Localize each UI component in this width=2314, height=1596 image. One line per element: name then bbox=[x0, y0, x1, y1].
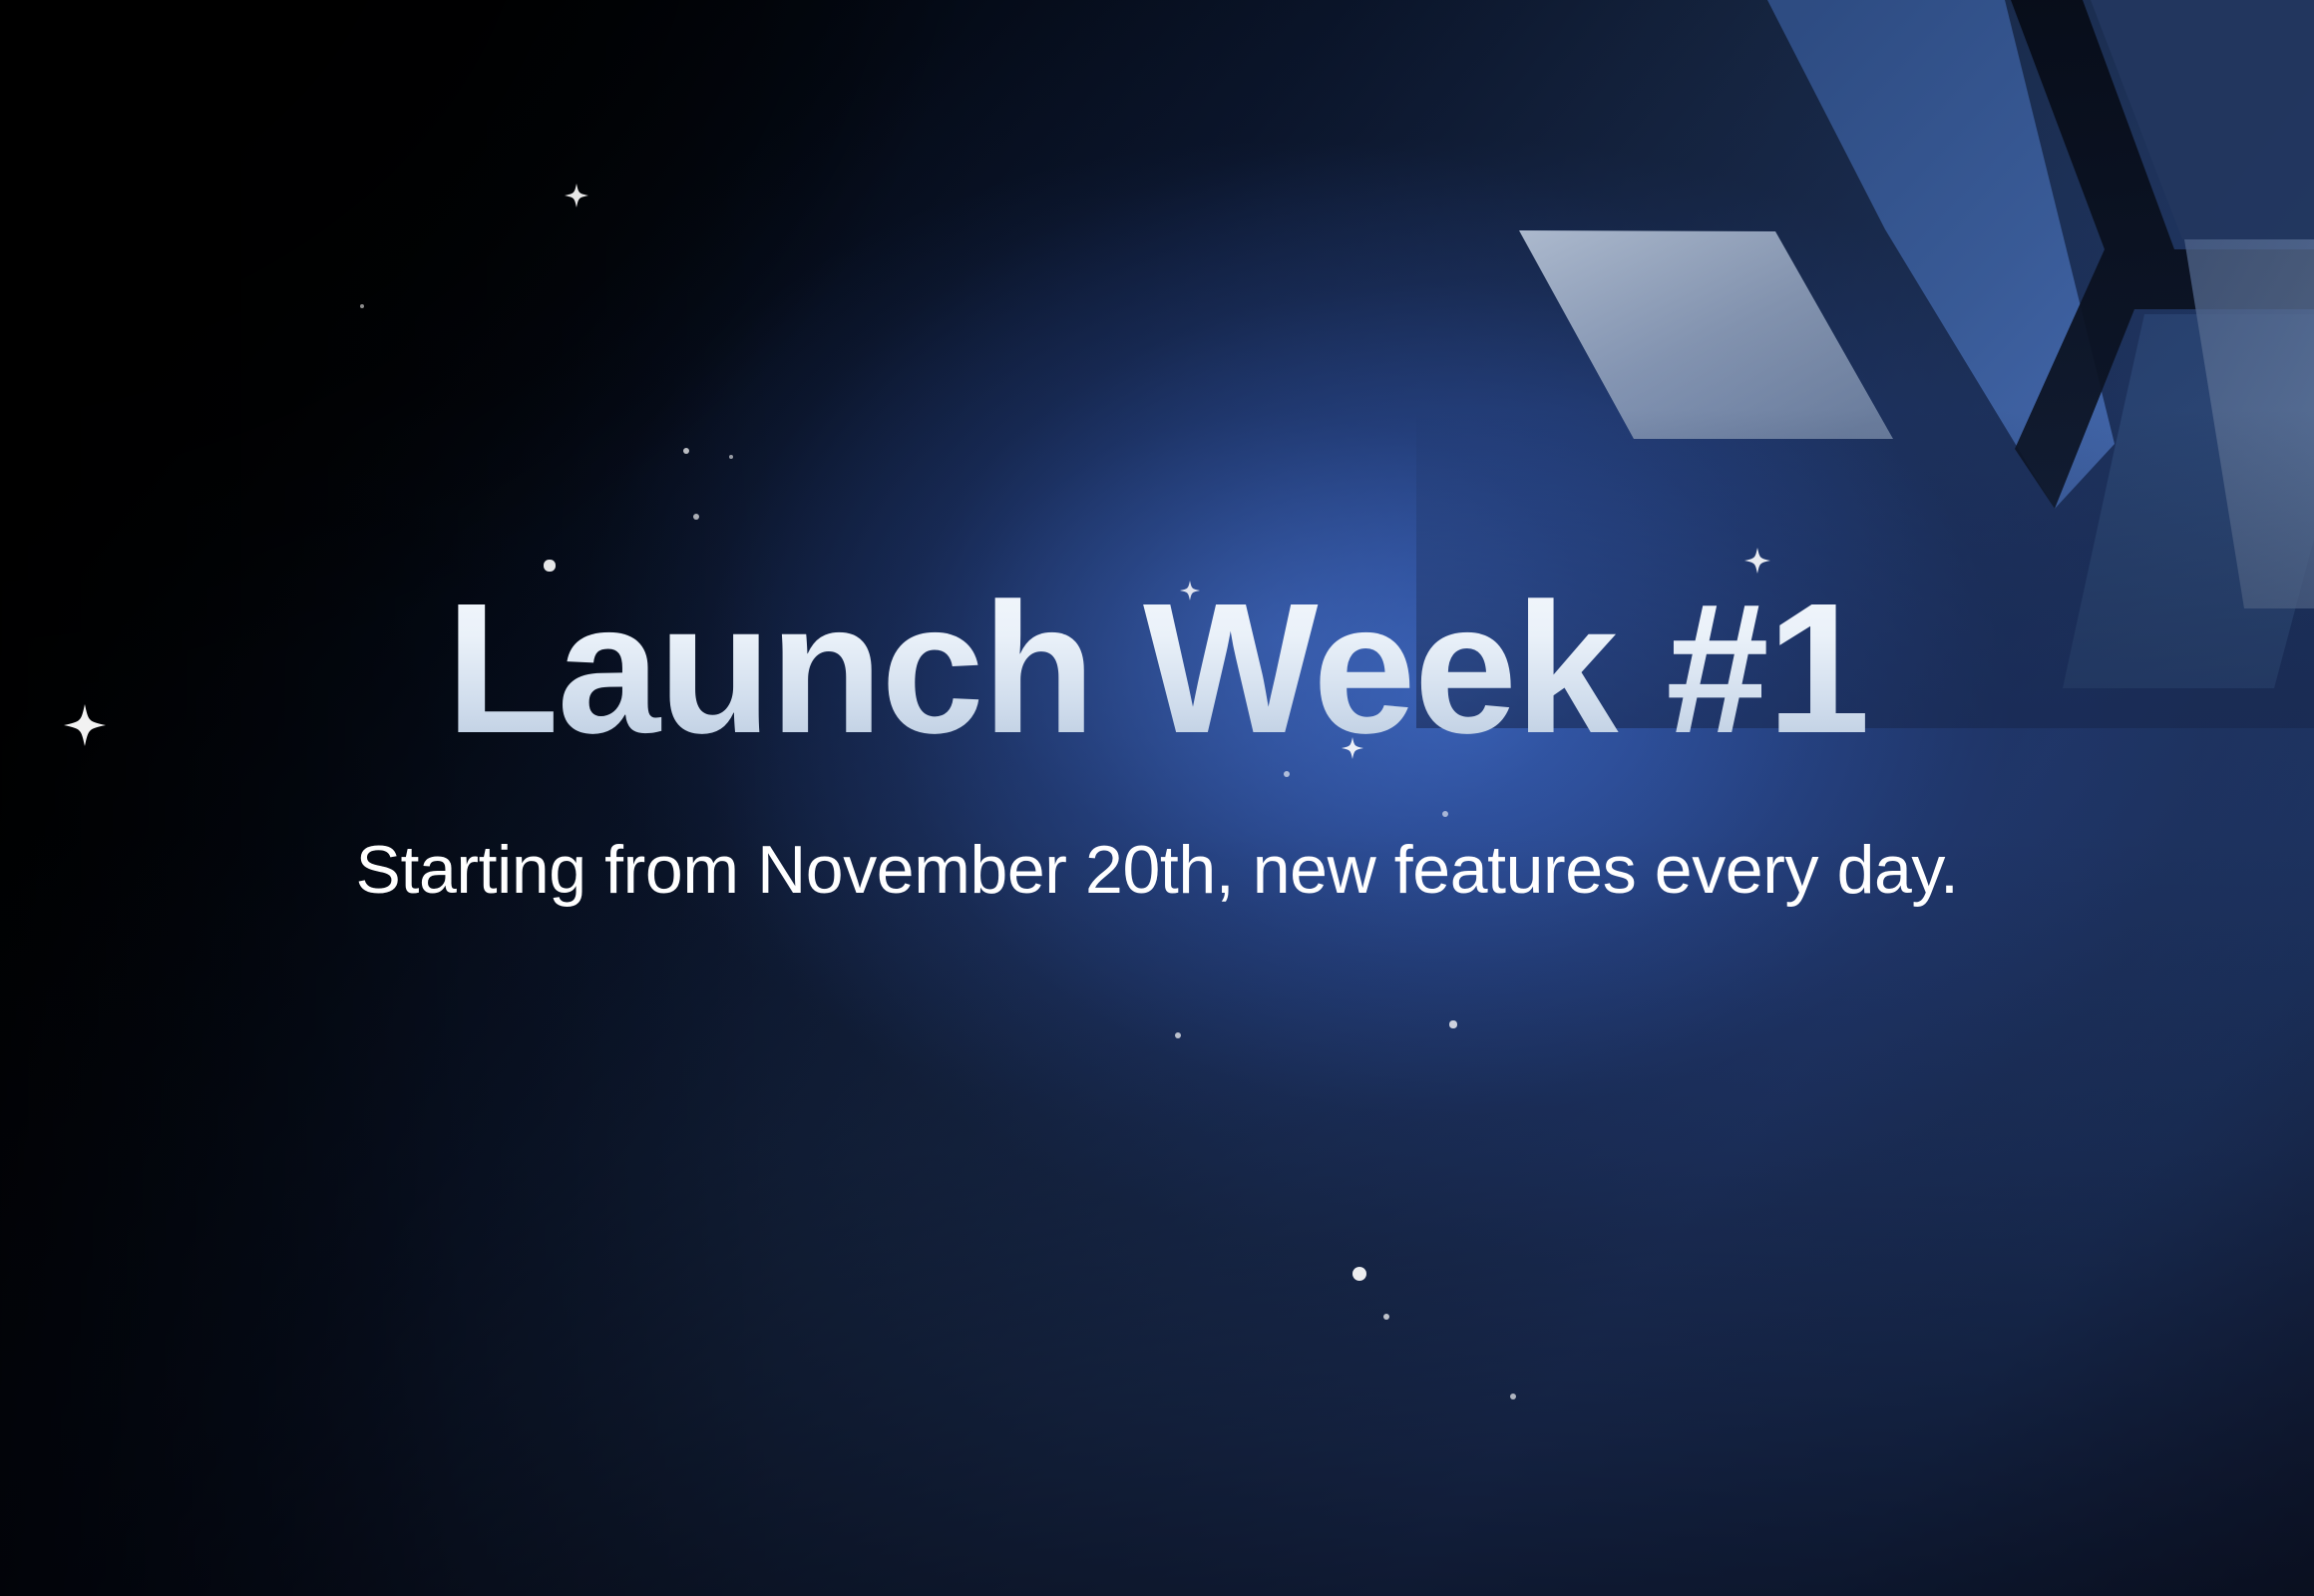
hero-banner: Launch Week #1 Starting from November 20… bbox=[0, 0, 2314, 1596]
page-subtitle: Starting from November 20th, new feature… bbox=[0, 836, 2314, 904]
hero-content: Launch Week #1 Starting from November 20… bbox=[0, 0, 2314, 1596]
page-title: Launch Week #1 bbox=[0, 577, 2314, 762]
